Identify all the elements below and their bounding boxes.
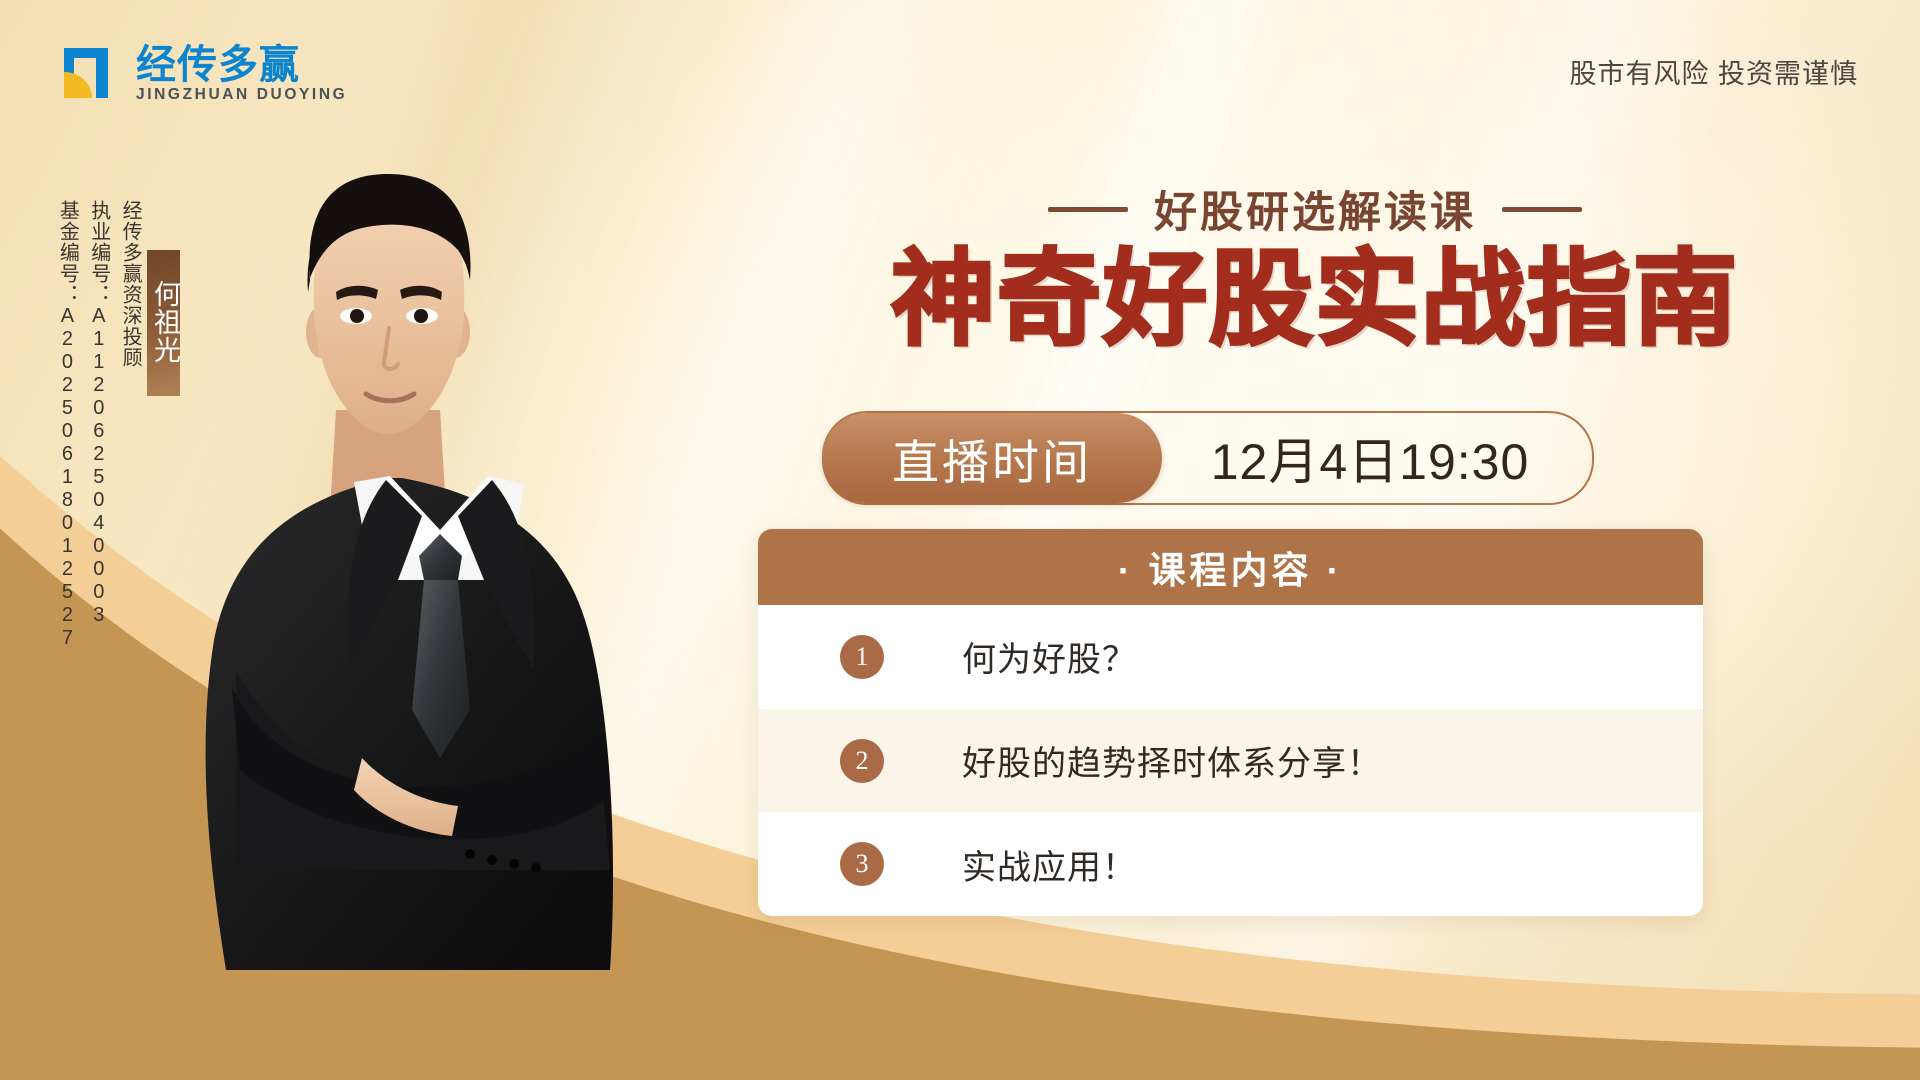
item-number-badge: 1 <box>840 635 884 679</box>
item-label: 实战应用！ <box>962 840 1137 889</box>
presenter-credentials: 经传多赢资深投顾 执业编号：A1120625040003 基金编号：A20250… <box>56 200 141 650</box>
credential-line-2: 执业编号：A1120625040003 <box>87 200 109 627</box>
item-number-badge: 3 <box>840 842 884 886</box>
risk-notice: 股市有风险 投资需谨慎 <box>1569 52 1858 91</box>
course-items-list: 1 何为好股？ 2 好股的趋势择时体系分享！ 3 实战应用！ <box>758 605 1703 916</box>
list-item: 1 何为好股？ <box>758 605 1703 709</box>
list-item: 3 实战应用！ <box>758 812 1703 916</box>
presenter-name-badge: 何祖光 <box>147 250 180 396</box>
subtitle-row: 好股研选解读课 <box>760 180 1870 238</box>
presenter-photo <box>140 110 680 970</box>
list-item: 2 好股的趋势择时体系分享！ <box>758 709 1703 813</box>
logo-english-name: JINGZHUAN DUOYING <box>136 87 347 103</box>
credential-line-1: 经传多赢资深投顾 <box>119 200 141 368</box>
subtitle-dash-right-icon <box>1502 207 1582 212</box>
item-label: 好股的趋势择时体系分享！ <box>962 736 1382 785</box>
live-time-pill: 直播时间 12月4日19:30 <box>822 411 1594 505</box>
poster-canvas: 经传多赢 JINGZHUAN DUOYING 股市有风险 投资需谨慎 <box>0 0 1920 1080</box>
course-content-panel: · 课程内容 · 1 何为好股？ 2 好股的趋势择时体系分享！ 3 实战应用！ <box>758 529 1703 916</box>
course-content-header: · 课程内容 · <box>758 529 1703 605</box>
jingzhuan-logo-mark-icon <box>60 44 126 102</box>
headline-block: 好股研选解读课 神奇好股实战指南 <box>760 180 1870 356</box>
logo-chinese-name: 经传多赢 <box>136 45 347 85</box>
course-main-title: 神奇好股实战指南 <box>760 244 1870 356</box>
credential-line-3: 基金编号：A20250618012527 <box>56 200 78 650</box>
item-number-badge: 2 <box>840 739 884 783</box>
subtitle-dash-left-icon <box>1048 207 1128 212</box>
item-label: 何为好股？ <box>962 632 1137 681</box>
live-time-value: 12月4日19:30 <box>1162 422 1592 494</box>
course-subtitle: 好股研选解读课 <box>1154 178 1476 240</box>
live-time-label: 直播时间 <box>822 413 1162 503</box>
brand-logo: 经传多赢 JINGZHUAN DUOYING <box>60 44 347 102</box>
